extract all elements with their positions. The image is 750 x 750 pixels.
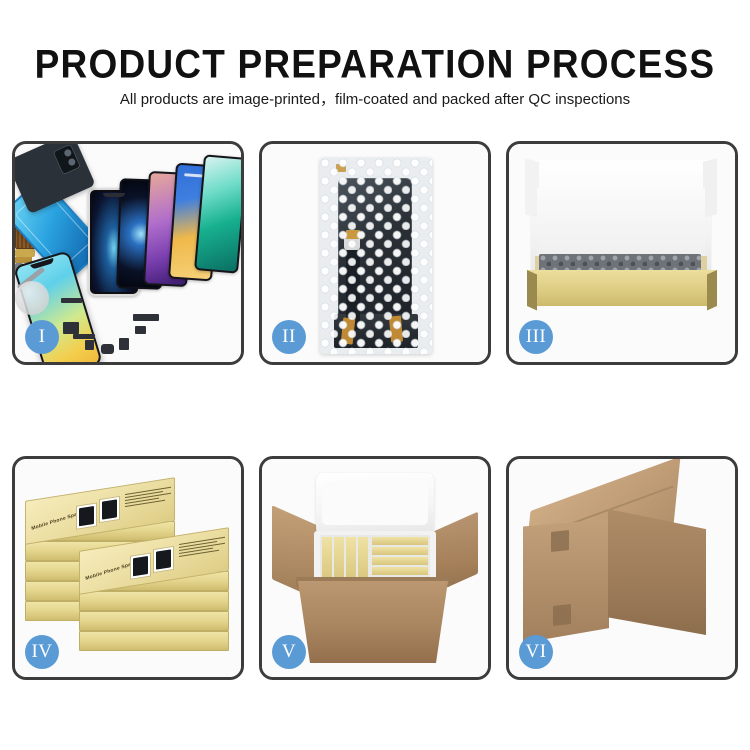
- screen-surface: [196, 156, 244, 271]
- phone-back-housing: [12, 141, 96, 214]
- retail-box-edge: [79, 591, 229, 611]
- carton-body: [298, 581, 448, 663]
- retail-box-edge: [79, 611, 229, 631]
- box-stack: Mobile Phone Spare Parts Mobile Phone Sp…: [23, 475, 239, 665]
- carton-tape-patch: [553, 604, 571, 626]
- box-spec-lines: [125, 487, 171, 514]
- retail-box-edge: [79, 631, 229, 651]
- packed-box: [358, 537, 368, 581]
- packed-box: [372, 567, 428, 575]
- carton-right-face: [608, 509, 706, 635]
- packed-box: [346, 537, 356, 581]
- step-badge-3: III: [519, 320, 553, 354]
- box-spec-lines: [179, 537, 225, 564]
- box-window: [76, 502, 97, 529]
- process-panel-2[interactable]: II: [259, 141, 491, 365]
- box-front-yellow: [527, 270, 717, 306]
- panel-grid: I II III: [0, 0, 750, 750]
- hand-blur: [15, 281, 49, 315]
- process-panel-3[interactable]: III: [506, 141, 738, 365]
- packed-box: [322, 537, 332, 581]
- process-panel-6[interactable]: VI: [506, 456, 738, 680]
- process-panel-5[interactable]: V: [259, 456, 491, 680]
- packed-box: [372, 537, 428, 545]
- flex-cable-part: [15, 249, 35, 257]
- spare-part-component: [85, 340, 94, 350]
- box-window: [99, 496, 120, 523]
- step-badge-2: II: [272, 320, 306, 354]
- carton-tape-patch: [551, 530, 569, 552]
- spare-part-bar: [61, 298, 82, 303]
- spare-part-component: [133, 314, 159, 321]
- foam-lid: [316, 473, 434, 537]
- bubble-wrap-bag: [320, 158, 432, 354]
- spare-part-component: [63, 322, 79, 334]
- step-badge-4: IV: [25, 635, 59, 669]
- spare-part-component: [101, 344, 114, 354]
- box-window: [153, 546, 174, 573]
- phone-screen-teal: [194, 154, 244, 273]
- box-lid-side-right: [703, 158, 717, 217]
- spare-part-component: [135, 326, 146, 334]
- carton-contents: [320, 535, 430, 583]
- packed-box: [372, 547, 428, 555]
- packed-box: [334, 537, 344, 581]
- step-badge-6: VI: [519, 635, 553, 669]
- step-badge-5: V: [272, 635, 306, 669]
- packed-box: [372, 557, 428, 565]
- spare-part-component: [119, 338, 129, 350]
- spare-part-component: [73, 334, 95, 339]
- box-window: [130, 552, 151, 579]
- step-badge-1: I: [25, 320, 59, 354]
- process-panel-4[interactable]: Mobile Phone Spare Parts Mobile Phone Sp…: [12, 456, 244, 680]
- process-panel-1[interactable]: I: [12, 141, 244, 365]
- bubble-texture: [320, 158, 432, 354]
